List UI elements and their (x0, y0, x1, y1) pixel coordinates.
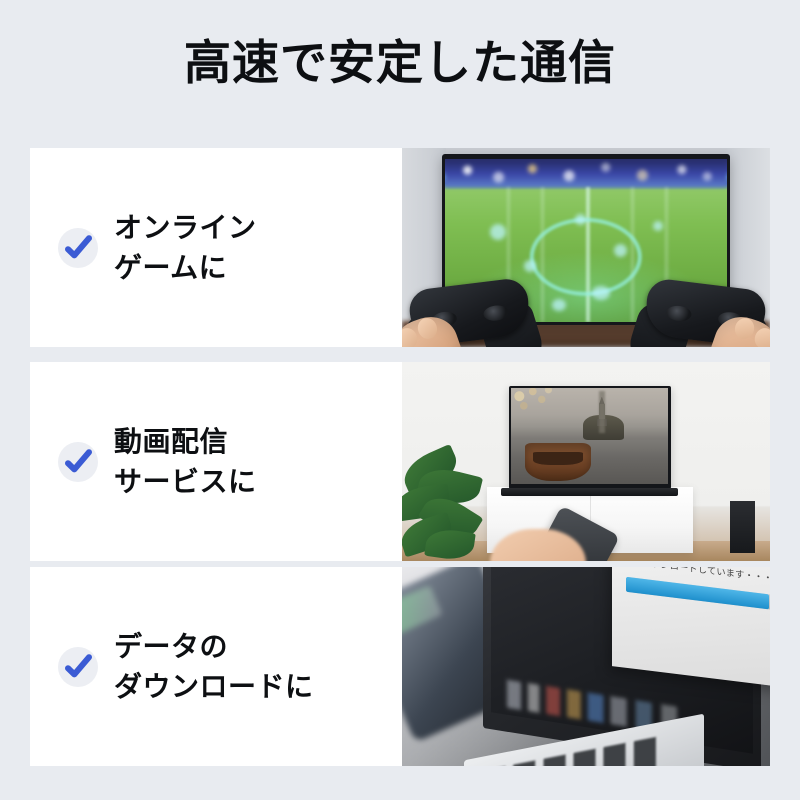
card-label: 動画配信 サービスに (114, 422, 257, 502)
feature-card-data-download: データの ダウンロードに ダウンロードしています・・・86% (30, 567, 770, 766)
card-label: データの ダウンロードに (114, 627, 314, 707)
card-text-pane: 動画配信 サービスに (30, 362, 402, 561)
check-icon (58, 647, 98, 687)
check-icon (58, 442, 98, 482)
feature-card-video-streaming: 動画配信 サービスに (30, 362, 770, 561)
page-title: 高速で安定した通信 (0, 36, 800, 90)
promo-page: 高速で安定した通信 オンライン ゲームに (0, 0, 800, 800)
check-icon (58, 228, 98, 268)
feature-card-online-game: オンライン ゲームに (30, 148, 770, 347)
tv-stand-lake-scene-remote-photo (402, 362, 770, 561)
laptop-download-progress-photo: ダウンロードしています・・・86% (402, 567, 770, 766)
card-text-pane: データの ダウンロードに (30, 567, 402, 766)
card-label: オンライン ゲームに (114, 208, 257, 288)
card-text-pane: オンライン ゲームに (30, 148, 402, 347)
gaming-controllers-tv-soccer-photo (402, 148, 770, 347)
